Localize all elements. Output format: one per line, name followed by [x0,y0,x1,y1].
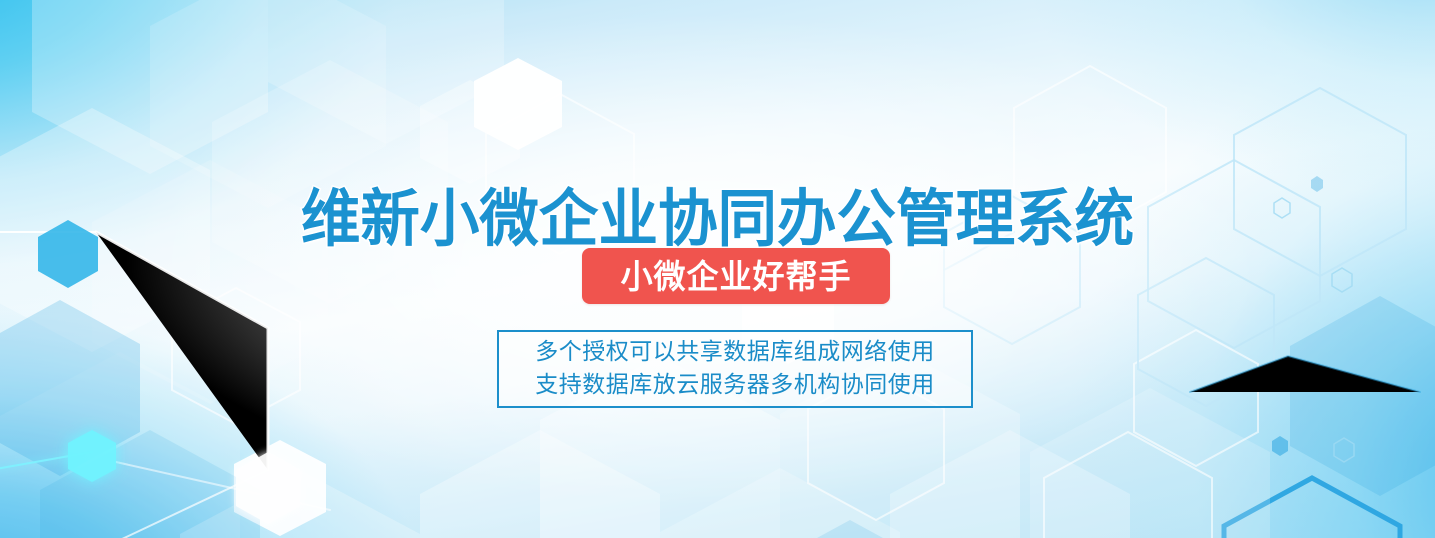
banner-content: 维新小微企业协同办公管理系统 小微企业好帮手 多个授权可以共享数据库组成网络使用… [0,0,1435,538]
feature-info-line-2: 支持数据库放云服务器多机构协同使用 [535,369,935,402]
feature-info-box: 多个授权可以共享数据库组成网络使用 支持数据库放云服务器多机构协同使用 [497,330,973,408]
tagline-badge-label: 小微企业好帮手 [621,260,852,293]
promo-banner: 维新小微企业协同办公管理系统 小微企业好帮手 多个授权可以共享数据库组成网络使用… [0,0,1435,538]
tagline-badge: 小微企业好帮手 [582,248,890,304]
feature-info-line-1: 多个授权可以共享数据库组成网络使用 [535,336,935,369]
page-title: 维新小微企业协同办公管理系统 [29,188,1407,250]
